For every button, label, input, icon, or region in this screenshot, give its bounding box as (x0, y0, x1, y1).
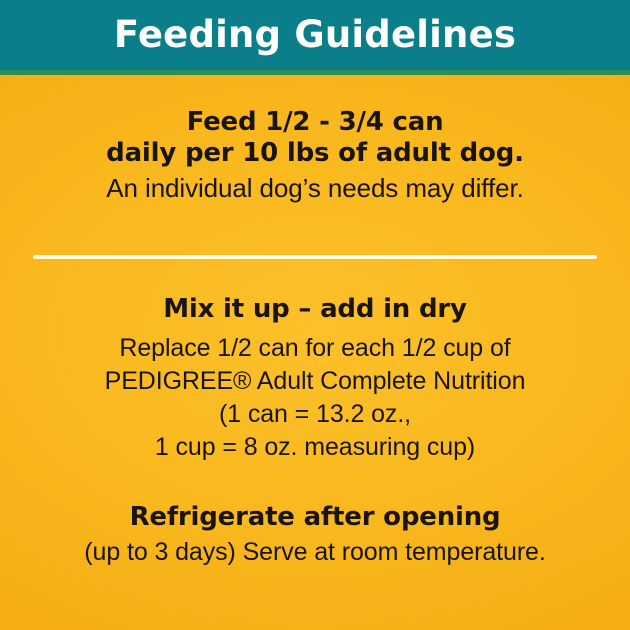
mix-it-up-line-1: Replace 1/2 can for each 1/2 cup of (0, 332, 630, 365)
section-feeding-amount: Feed 1/2 - 3/4 can daily per 10 lbs of a… (0, 107, 630, 207)
mix-it-up-line-2: PEDIGREE® Adult Complete Nutrition (0, 365, 630, 398)
mix-it-up-heading: Mix it up – add in dry (0, 292, 630, 326)
mix-it-up-line-3: (1 can = 13.2 oz., (0, 398, 630, 431)
section-refrigerate: Refrigerate after opening (up to 3 days)… (0, 499, 630, 569)
mix-it-up-line-4: 1 cup = 8 oz. measuring cup) (0, 431, 630, 464)
section-divider (33, 255, 597, 259)
feeding-amount-note: An individual dog’s needs may differ. (0, 169, 630, 207)
content-area: Feed 1/2 - 3/4 can daily per 10 lbs of a… (0, 75, 630, 630)
section-mix-it-up: Mix it up – add in dry Replace 1/2 can f… (0, 292, 630, 464)
refrigerate-heading: Refrigerate after opening (0, 499, 630, 535)
refrigerate-note: (up to 3 days) Serve at room temperature… (0, 535, 630, 569)
feeding-guidelines-panel: Feeding Guidelines Feed 1/2 - 3/4 can da… (0, 0, 630, 630)
header-bar: Feeding Guidelines (0, 0, 630, 70)
page-title: Feeding Guidelines (114, 16, 516, 55)
feeding-amount-bold-line-2: daily per 10 lbs of adult dog. (0, 138, 630, 169)
feeding-amount-bold-line-1: Feed 1/2 - 3/4 can (0, 107, 630, 138)
